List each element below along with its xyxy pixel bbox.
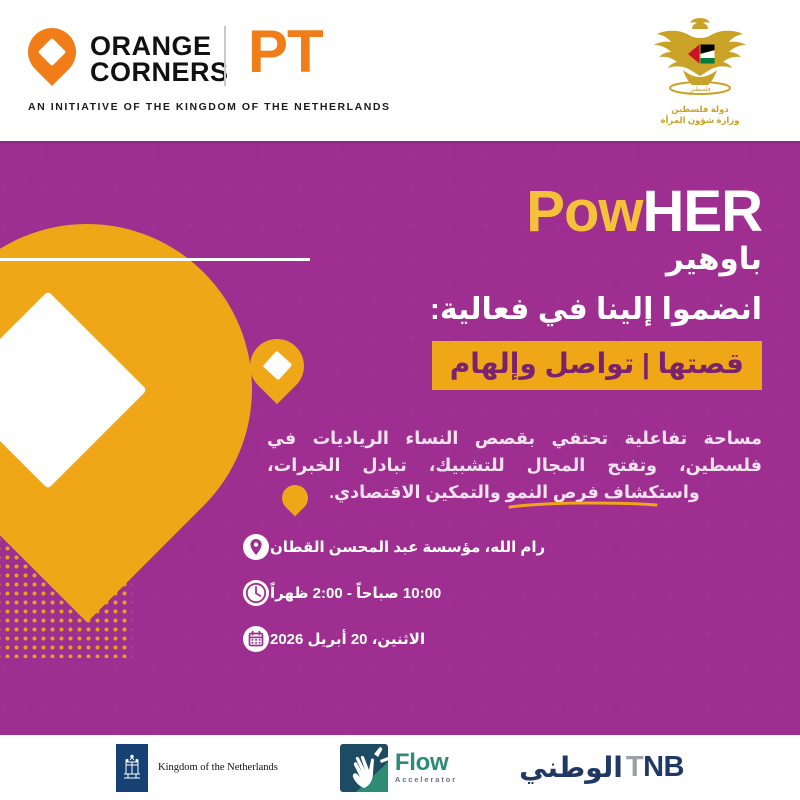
flow-label: Flow — [395, 751, 457, 775]
title-part-2: HER — [643, 179, 762, 244]
orange-corners-logo: ORANGE CORNERS — [28, 28, 229, 90]
title-part-1: Pow — [526, 179, 642, 244]
tnb-logo-icon: الوطني TNB — [519, 753, 684, 782]
flow-accelerator-logo: Flow Accelerator — [340, 744, 457, 792]
clock-icon — [242, 579, 270, 607]
calendar-icon — [242, 625, 270, 653]
tnb-arabic-label: الوطني — [519, 754, 623, 782]
event-details-list: رام الله، مؤسسة عبد المحسن القطان 10:00 … — [242, 533, 762, 671]
emblem-line-2: وزارة شؤون المرأة — [642, 115, 758, 126]
tnb-letters-nb: NB — [643, 751, 684, 783]
brand-line-1: ORANGE — [90, 33, 229, 59]
palestine-eagle-emblem-icon: فلسطين — [645, 14, 755, 98]
event-poster: ORANGE CORNERS PT AN INITIATIVE OF THE K… — [0, 0, 800, 800]
detail-row-time: 10:00 صباحاً - 2:00 ظهراً — [242, 579, 762, 607]
flow-wordmark: Flow Accelerator — [395, 751, 457, 784]
brand-line-2: CORNERS — [90, 59, 229, 85]
decorative-pin-icon — [0, 224, 252, 694]
event-name-banner: قصتها | تواصل وإلهام — [432, 341, 762, 390]
orange-corners-pin-icon — [28, 28, 76, 90]
join-invitation-line: انضموا إلينا في فعالية: — [242, 291, 762, 329]
title-rule — [0, 258, 310, 261]
netherlands-crest-icon — [116, 744, 148, 792]
svg-text:فلسطين: فلسطين — [689, 86, 711, 93]
netherlands-logo: Kingdom of the Netherlands — [116, 744, 278, 792]
tnb-latin-label: TNB — [626, 753, 684, 782]
logo-divider — [224, 26, 226, 86]
header-tagline: AN INITIATIVE OF THE KINGDOM OF THE NETH… — [28, 101, 391, 113]
title-arabic: باوهير — [666, 243, 762, 274]
poster-main-band: PowHER باوهير انضموا إلينا في فعالية: قص… — [0, 141, 800, 735]
underline-swoosh-icon — [508, 501, 658, 509]
detail-location-text: رام الله، مؤسسة عبد المحسن القطان — [270, 538, 545, 556]
detail-row-location: رام الله، مؤسسة عبد المحسن القطان — [242, 533, 762, 561]
detail-row-date: الاثنين، 20 أبريل 2026 — [242, 625, 762, 653]
poster-header: ORANGE CORNERS PT AN INITIATIVE OF THE K… — [0, 0, 800, 141]
poster-footer: Kingdom of the Netherlands Flow Accelera… — [0, 735, 800, 800]
emblem-line-1: دولة فلسطين — [642, 104, 758, 115]
page-title: PowHER — [526, 183, 762, 241]
band-top-edge — [0, 141, 800, 144]
small-pin-icon — [250, 339, 306, 411]
country-code: PT — [248, 22, 323, 82]
palestine-ministry-emblem: فلسطين دولة فلسطين وزارة شؤون المرأة — [642, 14, 758, 126]
location-pin-icon — [242, 533, 270, 561]
detail-date-text: الاثنين، 20 أبريل 2026 — [270, 630, 425, 648]
event-description: مساحة تفاعلية تحتفي بقصص النساء الرياديا… — [267, 425, 762, 506]
tnb-letter-t: T — [626, 751, 643, 783]
netherlands-label: Kingdom of the Netherlands — [158, 762, 278, 773]
flow-hands-icon — [340, 744, 388, 792]
orange-corners-wordmark: ORANGE CORNERS — [90, 33, 229, 86]
flow-sublabel: Accelerator — [395, 776, 457, 784]
detail-time-text: 10:00 صباحاً - 2:00 ظهراً — [270, 584, 441, 602]
